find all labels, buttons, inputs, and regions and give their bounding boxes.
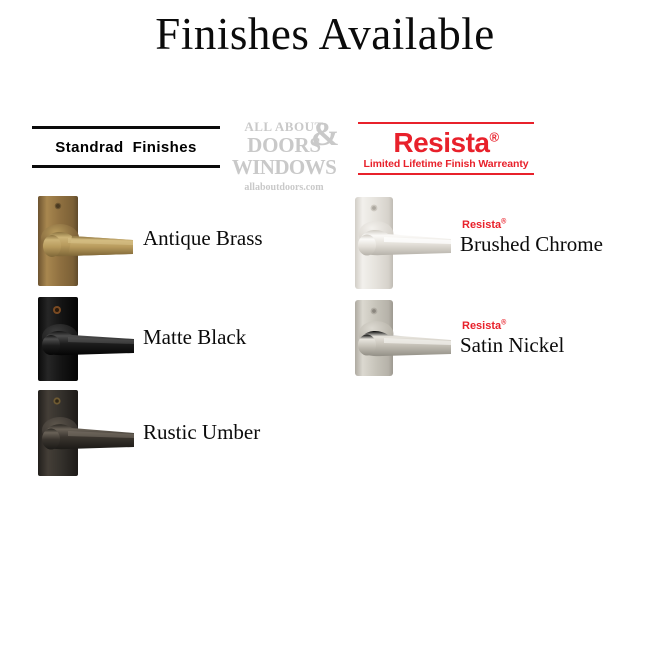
- resista-tag-text-satin-nickel: Resista: [462, 320, 501, 332]
- finish-label-rustic-umber: Rustic Umber: [143, 420, 260, 445]
- finish-label-satin-nickel: Satin Nickel: [460, 333, 564, 358]
- resista-tag-text-brushed-chrome: Resista: [462, 219, 501, 231]
- resista-rule-bottom: [358, 173, 534, 175]
- finish-label-antique-brass: Antique Brass: [143, 226, 263, 251]
- standard-finishes-header: Standrad Finishes: [32, 126, 220, 168]
- watermark-domain-text: allaboutdoors.com: [228, 183, 340, 193]
- resista-wordmark-text: Resista: [393, 127, 489, 158]
- finish-label-brushed-chrome: Brushed Chrome: [460, 232, 603, 257]
- resista-tag-brushed-chrome: Resista®: [462, 219, 506, 231]
- allaboutdoors-watermark-logo: ALL ABOUT & DOORS WINDOWS allaboutdoors.…: [228, 120, 340, 193]
- watermark-ampersand: &: [311, 118, 340, 152]
- watermark-line-1: ALL ABOUT &: [228, 120, 340, 134]
- resista-brand-name: Resista®: [358, 124, 534, 157]
- resista-tagline: Limited Lifetime Finish Warreanty: [358, 157, 534, 173]
- finish-row-rustic-umber[interactable]: Rustic Umber: [38, 390, 338, 478]
- registered-trademark-icon: ®: [501, 319, 506, 326]
- finish-row-antique-brass[interactable]: Antique Brass: [38, 196, 338, 288]
- finish-row-matte-black[interactable]: Matte Black: [38, 297, 338, 383]
- standard-finishes-label: Standrad Finishes: [32, 129, 220, 165]
- resista-brand-header: Resista® Limited Lifetime Finish Warrean…: [358, 122, 534, 175]
- finish-row-brushed-chrome[interactable]: Resista® Brushed Chrome: [355, 197, 650, 291]
- resista-tag-satin-nickel: Resista®: [462, 320, 506, 332]
- page-title: Finishes Available: [0, 12, 650, 57]
- registered-trademark-icon: ®: [501, 218, 506, 225]
- finish-label-matte-black: Matte Black: [143, 325, 246, 350]
- registered-trademark-icon: ®: [490, 130, 499, 145]
- finish-row-satin-nickel[interactable]: Resista® Satin Nickel: [355, 300, 650, 378]
- watermark-windows-text: WINDOWS: [228, 157, 340, 179]
- header-rule-bottom: [32, 165, 220, 168]
